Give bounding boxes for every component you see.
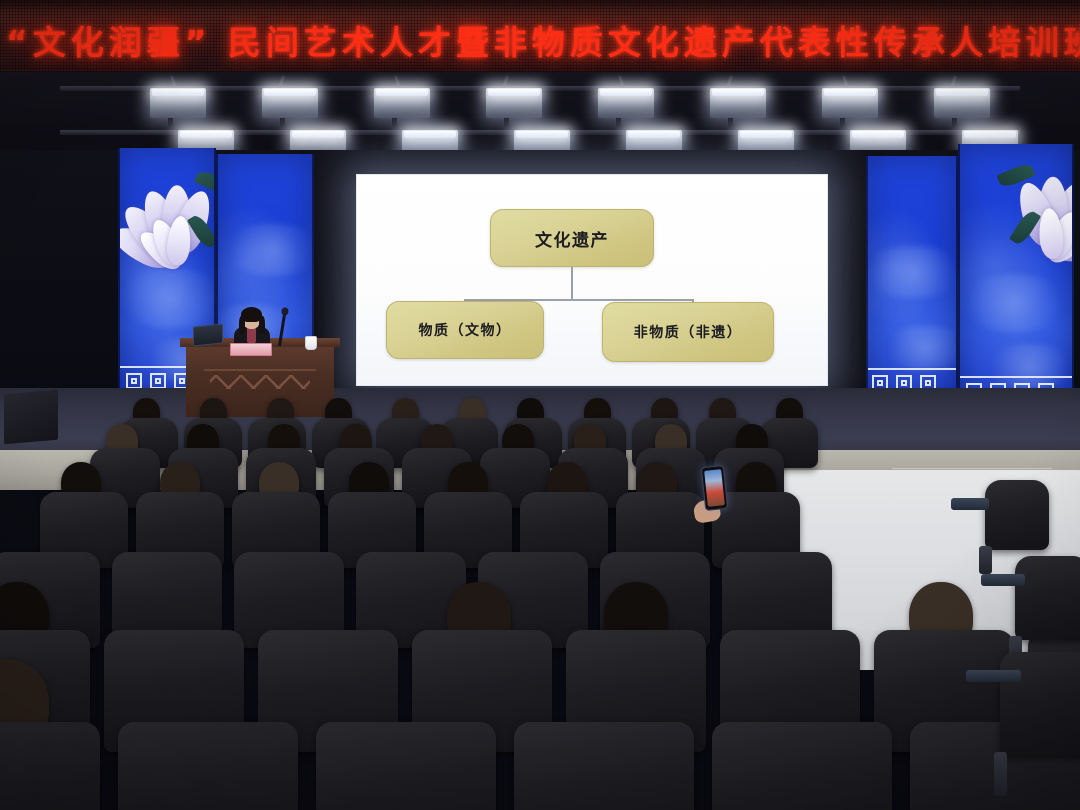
podium-nameplate xyxy=(230,343,272,356)
auditorium-seat[interactable] xyxy=(316,722,496,810)
connector-vertical-root xyxy=(571,267,573,301)
stage-loudspeaker xyxy=(4,390,58,445)
stage-light xyxy=(598,88,654,118)
stage-light xyxy=(710,88,766,118)
stage-light xyxy=(262,88,318,118)
lotus-flower-icon xyxy=(118,150,216,269)
led-panel-right-outer xyxy=(958,144,1074,410)
auditorium-photo: “文化润疆” 民间艺术人才暨非物质文化遗产代表性传承人培训班 xyxy=(0,0,1080,810)
projection-screen: 文化遗产 物质（文物） 非物质（非遗） xyxy=(356,174,828,386)
led-banner-text: “文化润疆” 民间艺术人才暨非物质文化遗产代表性传承人培训班 xyxy=(6,16,1080,64)
seat-writing-tablet[interactable] xyxy=(951,498,989,510)
lotus-flower-icon xyxy=(986,144,1075,262)
diagram-node-root: 文化遗产 xyxy=(490,209,654,267)
auditorium-seat[interactable] xyxy=(712,722,892,810)
water-cup xyxy=(305,336,317,350)
auditorium-seat-aisle[interactable] xyxy=(1015,556,1080,640)
auditorium-seat-aisle[interactable] xyxy=(985,480,1049,550)
seat-leg xyxy=(994,752,1007,796)
auditorium-seat[interactable] xyxy=(0,722,100,810)
seat-leg xyxy=(979,546,992,574)
diagram-node-intangible: 非物质（非遗） xyxy=(602,302,774,362)
auditorium-seat[interactable] xyxy=(118,722,298,810)
auditorium-seat-aisle[interactable] xyxy=(1000,652,1080,756)
led-banner: “文化润疆” 民间艺术人才暨非物质文化遗产代表性传承人培训班 xyxy=(0,0,1080,72)
smartphone-recording xyxy=(701,465,728,511)
stage-light xyxy=(934,88,990,118)
stage-light xyxy=(822,88,878,118)
stage-light xyxy=(486,88,542,118)
seat-writing-tablet[interactable] xyxy=(966,670,1021,682)
stage-light xyxy=(150,88,206,118)
stage-light xyxy=(374,88,430,118)
laptop xyxy=(193,323,223,346)
led-panel-right-inner xyxy=(866,156,958,402)
diagram-node-tangible: 物质（文物） xyxy=(386,301,544,359)
presenter xyxy=(232,310,272,346)
podium-chevron-trim xyxy=(204,369,316,395)
seat-writing-tablet[interactable] xyxy=(981,574,1025,586)
auditorium-seat[interactable] xyxy=(514,722,694,810)
